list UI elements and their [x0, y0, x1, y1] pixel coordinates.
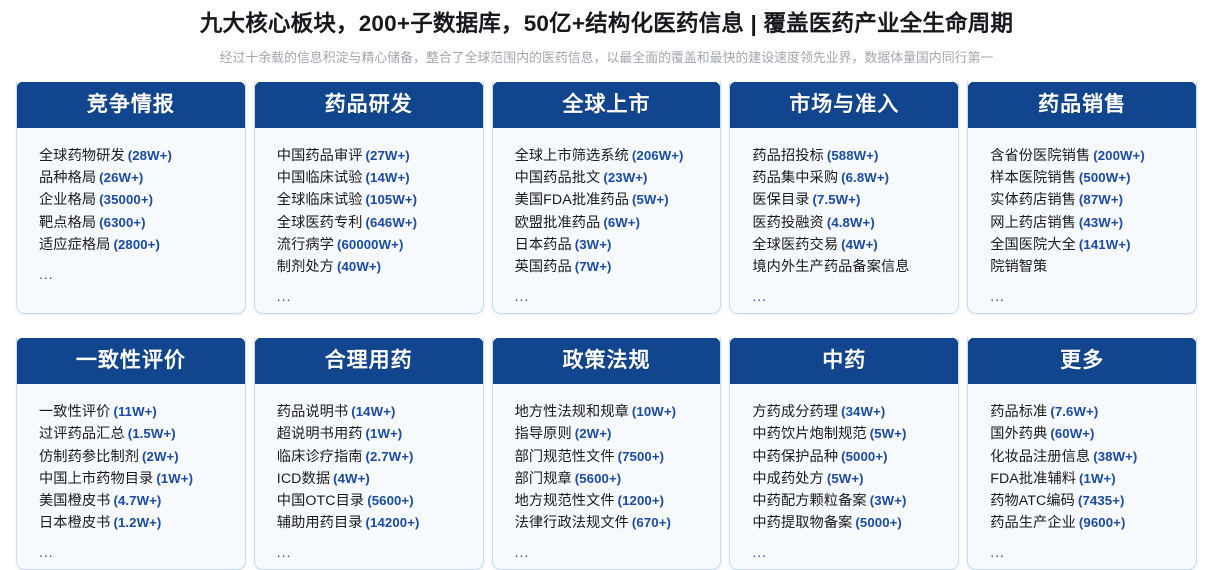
database-name: 药物ATC编码 — [990, 493, 1075, 509]
category-card-title: 更多 — [967, 338, 1197, 384]
database-list-item[interactable]: 法律行政法规文件(670+) — [515, 512, 721, 534]
database-record-count: (1W+) — [366, 426, 403, 441]
database-record-count: (6W+) — [603, 215, 640, 230]
database-record-count: (5000+) — [841, 449, 888, 464]
database-list-item[interactable]: 日本药品(3W+) — [515, 234, 721, 256]
database-list-item[interactable]: FDA批准辅料(1W+) — [990, 468, 1196, 490]
database-name: 日本橙皮书 — [39, 515, 110, 531]
database-record-count: (5W+) — [827, 471, 864, 486]
database-name: 美国FDA批准药品 — [515, 192, 629, 208]
category-card-title: 药品研发 — [254, 82, 484, 128]
database-list-item[interactable]: 超说明书用药(1W+) — [277, 423, 483, 445]
database-list-item[interactable]: 美国FDA批准药品(5W+) — [515, 189, 721, 211]
category-card[interactable]: 更多药品标准(7.6W+)国外药典(60W+)化妆品注册信息(38W+)FDA批… — [967, 338, 1197, 570]
database-name: 法律行政法规文件 — [515, 515, 629, 531]
category-card-body: 药品标准(7.6W+)国外药典(60W+)化妆品注册信息(38W+)FDA批准辅… — [968, 384, 1196, 569]
category-card-body: 药品招投标(588W+)药品集中采购(6.8W+)医保目录(7.5W+)医药投融… — [730, 128, 958, 313]
database-record-count: (2W+) — [575, 426, 612, 441]
database-name: 英国药品 — [515, 259, 572, 275]
category-card-body: 一致性评价(11W+)过评药品汇总(1.5W+)仿制药参比制剂(2W+)中国上市… — [17, 384, 245, 569]
database-list-item[interactable]: 靶点格局(6300+) — [39, 212, 245, 234]
database-list-item[interactable]: 药品生产企业(9600+) — [990, 512, 1196, 534]
more-ellipsis[interactable]: ... — [515, 545, 721, 559]
database-record-count: (5W+) — [870, 426, 907, 441]
category-card[interactable]: 药品销售含省份医院销售(200W+)样本医院销售(500W+)实体药店销售(87… — [967, 82, 1197, 314]
database-name: 中成药处方 — [752, 471, 823, 487]
database-record-count: (670+) — [632, 515, 671, 530]
database-record-count: (1.5W+) — [128, 426, 176, 441]
database-name: 全球医药专利 — [277, 215, 363, 231]
database-name: 中药提取物备案 — [752, 515, 852, 531]
database-list-item[interactable]: 仿制药参比制剂(2W+) — [39, 446, 245, 468]
database-name: 药品标准 — [990, 404, 1047, 420]
database-name: 日本药品 — [515, 237, 572, 253]
database-name: 中国临床试验 — [277, 170, 363, 186]
database-record-count: (9600+) — [1079, 515, 1126, 530]
database-name: 网上药店销售 — [990, 215, 1076, 231]
database-name: 国外药典 — [990, 426, 1047, 442]
more-ellipsis[interactable]: ... — [515, 289, 721, 303]
more-ellipsis[interactable]: ... — [752, 289, 958, 303]
database-list-item[interactable]: 中药保护品种(5000+) — [752, 446, 958, 468]
database-list-item[interactable]: 医保目录(7.5W+) — [752, 189, 958, 211]
database-list-item[interactable]: 中药配方颗粒备案(3W+) — [752, 490, 958, 512]
database-record-count: (6.8W+) — [841, 170, 889, 185]
database-list-item[interactable]: 中国上市药物目录(1W+) — [39, 468, 245, 490]
database-name: 样本医院销售 — [990, 170, 1076, 186]
database-list-item[interactable]: 方药成分药理(34W+) — [752, 401, 958, 423]
category-card-title: 药品销售 — [967, 82, 1197, 128]
database-record-count: (4.8W+) — [827, 215, 875, 230]
database-name: 含省份医院销售 — [990, 148, 1090, 164]
database-record-count: (28W+) — [128, 148, 172, 163]
database-record-count: (206W+) — [632, 148, 684, 163]
database-name: 全球药物研发 — [39, 148, 125, 164]
database-name: 全球医药交易 — [752, 237, 838, 253]
database-list-item[interactable]: 中药提取物备案(5000+) — [752, 512, 958, 534]
category-card-title: 全球上市 — [492, 82, 722, 128]
database-list-item[interactable]: 全球医药交易(4W+) — [752, 234, 958, 256]
category-card[interactable]: 政策法规地方性法规和规章(10W+)指导原则(2W+)部门规范性文件(7500+… — [492, 338, 722, 570]
database-name: 辅助用药目录 — [277, 515, 363, 531]
category-card-grid: 竞争情报全球药物研发(28W+)品种格局(26W+)企业格局(35000+)靶点… — [16, 82, 1197, 570]
database-name: 制剂处方 — [277, 259, 334, 275]
database-record-count: (2W+) — [142, 449, 179, 464]
category-card[interactable]: 市场与准入药品招投标(588W+)药品集中采购(6.8W+)医保目录(7.5W+… — [729, 82, 959, 314]
database-list-item[interactable]: 中药饮片炮制规范(5W+) — [752, 423, 958, 445]
database-name: 全国医院大全 — [990, 237, 1076, 253]
page-subtitle: 经过十余载的信息积淀与精心储备，整合了全球范围内的医药信息，以最全面的覆盖和最快… — [0, 48, 1213, 68]
category-card-title: 竞争情报 — [16, 82, 246, 128]
database-record-count: (7500+) — [618, 449, 665, 464]
database-name: 中药配方颗粒备案 — [752, 493, 866, 509]
database-name: 地方性法规和规章 — [515, 404, 629, 420]
database-record-count: (14W+) — [351, 404, 395, 419]
database-list-item[interactable]: 地方性法规和规章(10W+) — [515, 401, 721, 423]
category-card-title: 中药 — [729, 338, 959, 384]
database-record-count: (60000W+) — [337, 237, 404, 252]
database-record-count: (23W+) — [603, 170, 647, 185]
category-card-title: 政策法规 — [492, 338, 722, 384]
database-list-item[interactable]: 辅助用药目录(14200+) — [277, 512, 483, 534]
database-name: 过评药品汇总 — [39, 426, 125, 442]
database-list-item[interactable]: 企业格局(35000+) — [39, 189, 245, 211]
category-card[interactable]: 全球上市全球上市筛选系统(206W+)中国药品批文(23W+)美国FDA批准药品… — [492, 82, 722, 314]
database-record-count: (1W+) — [1079, 471, 1116, 486]
more-ellipsis[interactable]: ... — [39, 267, 245, 281]
database-name: 全球上市筛选系统 — [515, 148, 629, 164]
more-ellipsis[interactable]: ... — [277, 289, 483, 303]
category-card-body: 药品说明书(14W+)超说明书用药(1W+)临床诊疗指南(2.7W+)ICD数据… — [255, 384, 483, 569]
database-list-item[interactable]: 品种格局(26W+) — [39, 167, 245, 189]
database-list-item[interactable]: 中国药品批文(23W+) — [515, 167, 721, 189]
category-card-body: 中国药品审评(27W+)中国临床试验(14W+)全球临床试验(105W+)全球医… — [255, 128, 483, 313]
database-list-item[interactable]: 药品招投标(588W+) — [752, 145, 958, 167]
database-list-item[interactable]: 全国医院大全(141W+) — [990, 234, 1196, 256]
category-card-title: 市场与准入 — [729, 82, 959, 128]
database-name: 一致性评价 — [39, 404, 110, 420]
database-list-item[interactable]: 一致性评价(11W+) — [39, 401, 245, 423]
database-name: 药品招投标 — [752, 148, 823, 164]
database-record-count: (2.7W+) — [366, 449, 414, 464]
database-name: 部门规范性文件 — [515, 449, 615, 465]
database-list-item[interactable]: 过评药品汇总(1.5W+) — [39, 423, 245, 445]
database-list-item[interactable]: 欧盟批准药品(6W+) — [515, 212, 721, 234]
database-record-count: (7435+) — [1078, 493, 1125, 508]
database-list-item[interactable]: 临床诊疗指南(2.7W+) — [277, 446, 483, 468]
database-record-count: (200W+) — [1093, 148, 1145, 163]
database-record-count: (1200+) — [618, 493, 665, 508]
database-list-item[interactable]: 流行病学(60000W+) — [277, 234, 483, 256]
database-name: 方药成分药理 — [752, 404, 838, 420]
database-name: 院销智策 — [990, 259, 1047, 275]
database-list-item[interactable]: 国外药典(60W+) — [990, 423, 1196, 445]
database-name: 欧盟批准药品 — [515, 215, 601, 231]
database-record-count: (3W+) — [575, 237, 612, 252]
category-card-title: 一致性评价 — [16, 338, 246, 384]
database-list-item[interactable]: 英国药品(7W+) — [515, 256, 721, 278]
database-name: 品种格局 — [39, 170, 96, 186]
database-record-count: (35000+) — [99, 192, 153, 207]
database-list-item[interactable]: 全球上市筛选系统(206W+) — [515, 145, 721, 167]
database-list-item[interactable]: 中国药品审评(27W+) — [277, 145, 483, 167]
database-list-item[interactable]: 制剂处方(40W+) — [277, 256, 483, 278]
database-list-item[interactable]: ICD数据(4W+) — [277, 468, 483, 490]
database-record-count: (1.2W+) — [113, 515, 161, 530]
database-record-count: (141W+) — [1079, 237, 1131, 252]
database-list-item[interactable]: 中国OTC目录(5600+) — [277, 490, 483, 512]
database-list-item[interactable]: 美国橙皮书(4.7W+) — [39, 490, 245, 512]
database-record-count: (34W+) — [841, 404, 885, 419]
page-header: 九大核心板块，200+子数据库，50亿+结构化医药信息 | 覆盖医药产业全生命周… — [0, 0, 1213, 68]
database-list-item[interactable]: 中成药处方(5W+) — [752, 468, 958, 490]
database-record-count: (6300+) — [99, 215, 146, 230]
category-card-title: 合理用药 — [254, 338, 484, 384]
database-record-count: (14200+) — [366, 515, 420, 530]
database-record-count: (7W+) — [575, 259, 612, 274]
database-record-count: (40W+) — [337, 259, 381, 274]
category-card-body: 地方性法规和规章(10W+)指导原则(2W+)部门规范性文件(7500+)部门规… — [493, 384, 721, 569]
database-record-count: (14W+) — [366, 170, 410, 185]
database-list-item[interactable]: 全球临床试验(105W+) — [277, 189, 483, 211]
category-card[interactable]: 一致性评价一致性评价(11W+)过评药品汇总(1.5W+)仿制药参比制剂(2W+… — [16, 338, 246, 570]
more-ellipsis[interactable]: ... — [277, 545, 483, 559]
database-list-item[interactable]: 实体药店销售(87W+) — [990, 189, 1196, 211]
database-name: 靶点格局 — [39, 215, 96, 231]
category-card[interactable]: 合理用药药品说明书(14W+)超说明书用药(1W+)临床诊疗指南(2.7W+)I… — [254, 338, 484, 570]
database-name: 药品集中采购 — [752, 170, 838, 186]
database-list-item[interactable]: 含省份医院销售(200W+) — [990, 145, 1196, 167]
database-record-count: (588W+) — [827, 148, 879, 163]
database-name: 中药保护品种 — [752, 449, 838, 465]
more-ellipsis[interactable]: ... — [752, 545, 958, 559]
database-record-count: (38W+) — [1093, 449, 1137, 464]
database-record-count: (105W+) — [366, 192, 418, 207]
database-list-item[interactable]: 全球药物研发(28W+) — [39, 145, 245, 167]
database-record-count: (4.7W+) — [113, 493, 161, 508]
category-card-body: 全球上市筛选系统(206W+)中国药品批文(23W+)美国FDA批准药品(5W+… — [493, 128, 721, 313]
database-name: ICD数据 — [277, 471, 330, 487]
database-record-count: (7.5W+) — [813, 192, 861, 207]
category-card-body: 全球药物研发(28W+)品种格局(26W+)企业格局(35000+)靶点格局(6… — [17, 128, 245, 313]
database-record-count: (1W+) — [156, 471, 193, 486]
database-list-item[interactable]: 化妆品注册信息(38W+) — [990, 446, 1196, 468]
more-ellipsis[interactable]: ... — [990, 545, 1196, 559]
database-list-item[interactable]: 药品说明书(14W+) — [277, 401, 483, 423]
database-name: 中国上市药物目录 — [39, 471, 153, 487]
category-card[interactable]: 药品研发中国药品审评(27W+)中国临床试验(14W+)全球临床试验(105W+… — [254, 82, 484, 314]
database-name: 流行病学 — [277, 237, 334, 253]
database-list-item[interactable]: 医药投融资(4.8W+) — [752, 212, 958, 234]
database-name: 仿制药参比制剂 — [39, 449, 139, 465]
database-list-item[interactable]: 部门规章(5600+) — [515, 468, 721, 490]
database-list-item[interactable]: 中国临床试验(14W+) — [277, 167, 483, 189]
database-record-count: (4W+) — [333, 471, 370, 486]
database-name: 中国药品批文 — [515, 170, 601, 186]
database-list-item[interactable]: 部门规范性文件(7500+) — [515, 446, 721, 468]
database-name: 实体药店销售 — [990, 192, 1076, 208]
database-list-item[interactable]: 药物ATC编码(7435+) — [990, 490, 1196, 512]
database-list-item[interactable]: 药品标准(7.6W+) — [990, 401, 1196, 423]
database-list-item[interactable]: 指导原则(2W+) — [515, 423, 721, 445]
database-name: FDA批准辅料 — [990, 471, 1076, 487]
database-name: 超说明书用药 — [277, 426, 363, 442]
category-card[interactable]: 竞争情报全球药物研发(28W+)品种格局(26W+)企业格局(35000+)靶点… — [16, 82, 246, 314]
database-name: 中药饮片炮制规范 — [752, 426, 866, 442]
page-title: 九大核心板块，200+子数据库，50亿+结构化医药信息 | 覆盖医药产业全生命周… — [0, 9, 1213, 39]
database-list-item[interactable]: 地方规范性文件(1200+) — [515, 490, 721, 512]
database-record-count: (10W+) — [632, 404, 676, 419]
database-record-count: (5000+) — [855, 515, 902, 530]
database-record-count: (60W+) — [1050, 426, 1094, 441]
database-record-count: (27W+) — [366, 148, 410, 163]
database-name: 医保目录 — [752, 192, 809, 208]
database-record-count: (43W+) — [1079, 215, 1123, 230]
database-name: 医药投融资 — [752, 215, 823, 231]
database-name: 美国橙皮书 — [39, 493, 110, 509]
pharma-database-overview-page: 九大核心板块，200+子数据库，50亿+结构化医药信息 | 覆盖医药产业全生命周… — [0, 0, 1213, 569]
database-list-item[interactable]: 境内外生产药品备案信息 — [752, 256, 958, 278]
database-record-count: (3W+) — [870, 493, 907, 508]
database-name: 适应症格局 — [39, 237, 110, 253]
database-name: 全球临床试验 — [277, 192, 363, 208]
database-list-item[interactable]: 适应症格局(2800+) — [39, 234, 245, 256]
database-record-count: (2800+) — [113, 237, 160, 252]
more-ellipsis[interactable]: ... — [990, 289, 1196, 303]
category-card[interactable]: 中药方药成分药理(34W+)中药饮片炮制规范(5W+)中药保护品种(5000+)… — [729, 338, 959, 570]
database-record-count: (5600+) — [367, 493, 414, 508]
database-record-count: (646W+) — [366, 215, 418, 230]
database-name: 药品说明书 — [277, 404, 348, 420]
database-name: 企业格局 — [39, 192, 96, 208]
database-name: 药品生产企业 — [990, 515, 1076, 531]
database-record-count: (87W+) — [1079, 192, 1123, 207]
database-record-count: (500W+) — [1079, 170, 1131, 185]
database-list-item[interactable]: 样本医院销售(500W+) — [990, 167, 1196, 189]
category-card-body: 含省份医院销售(200W+)样本医院销售(500W+)实体药店销售(87W+)网… — [968, 128, 1196, 313]
database-name: 中国药品审评 — [277, 148, 363, 164]
database-record-count: (4W+) — [841, 237, 878, 252]
more-ellipsis[interactable]: ... — [39, 545, 245, 559]
database-name: 临床诊疗指南 — [277, 449, 363, 465]
database-name: 指导原则 — [515, 426, 572, 442]
database-record-count: (11W+) — [113, 404, 156, 419]
database-name: 化妆品注册信息 — [990, 449, 1090, 465]
database-name: 部门规章 — [515, 471, 572, 487]
category-card-body: 方药成分药理(34W+)中药饮片炮制规范(5W+)中药保护品种(5000+)中成… — [730, 384, 958, 569]
database-record-count: (7.6W+) — [1050, 404, 1098, 419]
database-name: 中国OTC目录 — [277, 493, 364, 509]
database-list-item[interactable]: 全球医药专利(646W+) — [277, 212, 483, 234]
database-record-count: (5600+) — [575, 471, 622, 486]
database-list-item[interactable]: 院销智策 — [990, 256, 1196, 278]
database-list-item[interactable]: 日本橙皮书(1.2W+) — [39, 512, 245, 534]
database-list-item[interactable]: 药品集中采购(6.8W+) — [752, 167, 958, 189]
database-record-count: (5W+) — [632, 192, 669, 207]
database-name: 境内外生产药品备案信息 — [752, 259, 909, 275]
database-list-item[interactable]: 网上药店销售(43W+) — [990, 212, 1196, 234]
database-name: 地方规范性文件 — [515, 493, 615, 509]
database-record-count: (26W+) — [99, 170, 143, 185]
